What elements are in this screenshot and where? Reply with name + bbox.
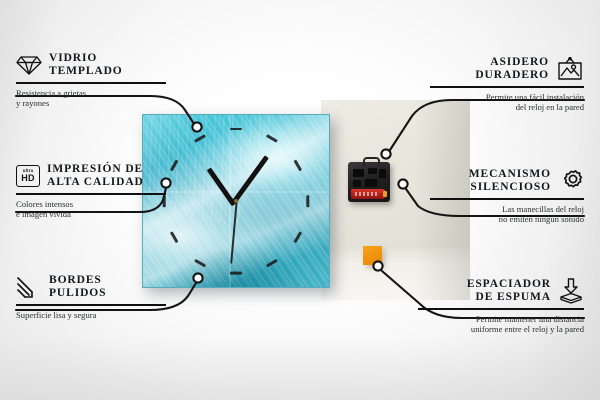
feature-desc-line1: Las manecillas del reloj [430, 204, 584, 215]
feature-asidero-duradero: ASIDERO DURADERO Permite una fácil insta… [430, 56, 584, 113]
feature-desc-line1: Superficie lisa y segura [16, 310, 166, 321]
feature-title-line2: DURADERO [475, 69, 549, 82]
wall-clock [142, 114, 330, 288]
feature-desc-line1: Resistencia a grietas [16, 88, 166, 99]
feature-bordes-pulidos: BORDES PULIDOS Superficie lisa y segura [16, 274, 166, 320]
feature-title-line1: IMPRESIÓN DE [47, 163, 144, 176]
feature-impresion-alta-calidad: ultra HD IMPRESIÓN DE ALTA CALIDAD Color… [16, 163, 166, 220]
hd-badge-main-text: HD [21, 174, 35, 183]
feature-title-line1: ESPACIADOR [467, 278, 551, 291]
feature-desc-line2: e imagen vívida [16, 209, 166, 220]
feature-title-line1: VIDRIO [49, 52, 123, 65]
feature-desc-line2: no emiten ningún sonido [430, 214, 584, 225]
feature-title-line1: MECANISMO [469, 168, 551, 181]
feature-title-line2: ALTA CALIDAD [47, 176, 144, 189]
feature-divider [418, 308, 584, 310]
feature-title-line2: SILENCIOSO [469, 181, 551, 194]
feature-title-line2: TEMPLADO [49, 65, 123, 78]
clock-tick [230, 128, 242, 131]
movement-battery [351, 189, 385, 199]
feature-desc-line2: y rayones [16, 98, 166, 109]
movement-hanger-icon [363, 157, 380, 167]
feature-desc-line1: Permite una fácil instalación [430, 92, 584, 103]
feature-desc-line1: Permite mantener una distancia [418, 314, 584, 325]
feature-divider [430, 86, 584, 88]
infographic-canvas: VIDRIO TEMPLADO Resistencia a grietas y … [0, 0, 600, 400]
clock-tick [307, 195, 310, 207]
feature-divider [16, 193, 166, 195]
feature-title-line2: PULIDOS [49, 287, 106, 300]
feature-desc-line2: del reloj en la pared [430, 102, 584, 113]
foam-spacer-arrow-icon [558, 278, 584, 304]
feature-divider [16, 304, 166, 306]
feature-desc-line2: uniforme entre el reloj y la pared [418, 324, 584, 335]
feature-divider [430, 198, 584, 200]
product-photo [136, 100, 470, 300]
diamond-icon [16, 54, 42, 76]
feature-espaciador-de-espuma: ESPACIADOR DE ESPUMA Permite mantener un… [418, 278, 584, 335]
clock-movement [348, 162, 390, 202]
feature-title-line2: DE ESPUMA [467, 291, 551, 304]
feature-divider [16, 82, 166, 84]
hanging-frame-icon [556, 57, 584, 81]
ultra-hd-badge-icon: ultra HD [16, 165, 40, 187]
feature-title-line1: ASIDERO [475, 56, 549, 69]
clock-center-pin [234, 199, 238, 203]
feature-vidrio-templado: VIDRIO TEMPLADO Resistencia a grietas y … [16, 52, 166, 109]
feature-title-line1: BORDES [49, 274, 106, 287]
clock-tick [230, 272, 242, 275]
feature-mecanismo-silencioso: MECANISMO SILENCIOSO Las manecillas del … [430, 168, 584, 225]
gear-icon [558, 169, 584, 193]
feature-desc-line1: Colores intensos [16, 199, 166, 210]
polished-edges-icon [16, 276, 42, 298]
foam-spacer [363, 246, 382, 265]
